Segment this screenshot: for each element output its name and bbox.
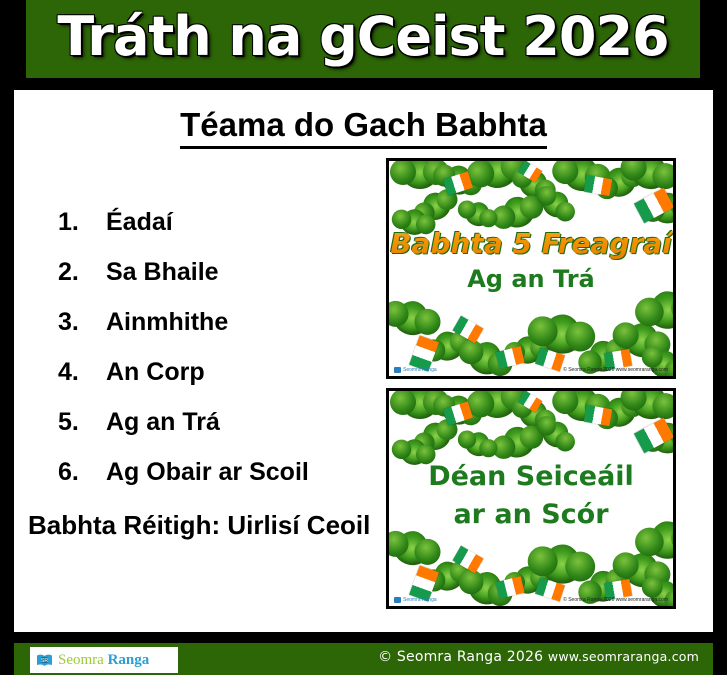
book-icon (394, 367, 401, 373)
list-item-label: Éadaí (106, 208, 388, 237)
shamrock-icon (538, 186, 574, 222)
tiebreaker-round: Babhta Réitigh: Uirlisí Ceoil (28, 510, 370, 541)
header-title: Tráth na gCeist 2026 (26, 0, 700, 76)
list-item: 4. An Corp (58, 358, 388, 408)
shamrock-icon (463, 199, 494, 230)
shamrock-icon (647, 289, 676, 330)
shamrock-icon (645, 345, 676, 379)
shamrock-icon (498, 192, 537, 231)
header-banner: Tráth na gCeist 2026 (26, 0, 700, 78)
list-item-label: Ag Obair ar Scoil (106, 458, 388, 487)
list-item-number: 6. (58, 458, 106, 487)
shamrock-icon (645, 575, 676, 609)
content-card: Téama do Gach Babhta 1. Éadaí 2. Sa Bhai… (14, 90, 713, 632)
list-item: 6. Ag Obair ar Scoil (58, 458, 388, 508)
thumbnail-logo-text: Seomra Ranga (403, 367, 437, 373)
irish-flag-icon (584, 405, 613, 426)
thumbnail-caption-main: Babhta 5 Freagraí (389, 227, 673, 260)
shamrock-icon (391, 297, 432, 338)
shamrock-icon (403, 388, 437, 419)
shamrock-icon (403, 158, 437, 189)
list-item-label: Ainmhithe (106, 308, 388, 337)
thumbnail-credit: © Seomra Ranga 2026 www.seomraranga.com (563, 367, 668, 373)
thumbnail-logo: Seomra Ranga (394, 597, 437, 603)
list-item: 3. Ainmhithe (58, 308, 388, 358)
thumbnail-caption-sub: Ag an Trá (389, 265, 673, 293)
footer-banner: SR Seomra Ranga © Seomra Ranga 2026 www.… (14, 643, 713, 675)
footer-logo-text: Seomra Ranga (58, 652, 149, 669)
rounds-list: 1. Éadaí 2. Sa Bhaile 3. Ainmhithe 4. An… (58, 208, 388, 508)
list-item-number: 2. (58, 258, 106, 287)
shamrock-icon (498, 422, 537, 461)
footer-url[interactable]: www.seomraranga.com (548, 649, 699, 664)
thumbnail-image: Déan Seiceáil ar an Scór Seomra Ranga © … (389, 391, 673, 606)
thumbnail-babhta-5-freagrai[interactable]: Babhta 5 Freagraí Ag an Trá Seomra Ranga… (386, 158, 676, 379)
list-item-number: 3. (58, 308, 106, 337)
thumbnail-caption-line-1: Déan Seiceáil (389, 461, 673, 492)
list-item-number: 5. (58, 408, 106, 437)
book-icon (394, 597, 401, 603)
thumbnail-image: Babhta 5 Freagraí Ag an Trá Seomra Ranga… (389, 161, 673, 376)
thumbnail-logo: Seomra Ranga (394, 367, 437, 373)
footer-copyright: © Seomra Ranga 2026 (378, 649, 543, 665)
list-item-label: Ag an Trá (106, 408, 388, 437)
svg-text:SR: SR (41, 658, 48, 664)
shamrock-icon (629, 158, 671, 193)
list-item: 2. Sa Bhaile (58, 258, 388, 308)
list-item-number: 1. (58, 208, 106, 237)
shamrock-icon (538, 416, 574, 452)
thumbnail-credit: © Seomra Ranga 2026 www.seomraranga.com (563, 597, 668, 603)
footer-logo-word-2: Ranga (108, 652, 150, 668)
page-title-text: Téama do Gach Babhta (180, 106, 547, 149)
list-item: 1. Éadaí (58, 208, 388, 258)
irish-flag-icon (584, 175, 613, 196)
thumbnail-dean-seiceail[interactable]: Déan Seiceáil ar an Scór Seomra Ranga © … (386, 388, 676, 609)
shamrock-icon (391, 527, 432, 568)
book-icon: SR (36, 653, 53, 667)
seomra-ranga-logo[interactable]: SR Seomra Ranga (30, 647, 178, 673)
thumbnail-logo-text: Seomra Ranga (403, 597, 437, 603)
shamrock-icon (629, 388, 671, 423)
footer-credit: © Seomra Ranga 2026 www.seomraranga.com (378, 649, 699, 665)
list-item-number: 4. (58, 358, 106, 387)
page-title: Téama do Gach Babhta (14, 106, 713, 144)
list-item: 5. Ag an Trá (58, 408, 388, 458)
footer-logo-word-1: Seomra (58, 652, 104, 668)
thumbnail-caption-line-2: ar an Scór (389, 499, 673, 530)
list-item-label: An Corp (106, 358, 388, 387)
shamrock-icon (463, 429, 494, 460)
list-item-label: Sa Bhaile (106, 258, 388, 287)
quiz-poster-page: Tráth na gCeist 2026 Téama do Gach Babht… (0, 0, 727, 675)
